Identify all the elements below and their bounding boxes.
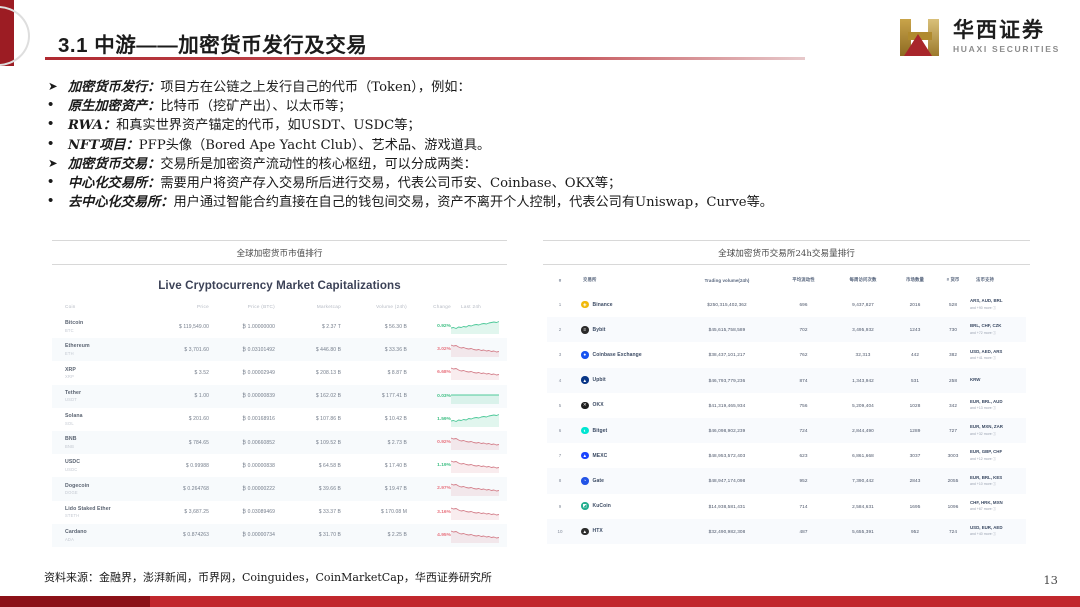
bullet-text: 比特币（挖矿产出）、以太币等； [160,97,351,116]
table-row[interactable]: DogecoinDOGE$ 0.264768₿ 0.00000222$ 39.6… [52,477,507,500]
exchange-fiat-support: EUR, BRL, KESand +10 more ⓘ [970,468,1026,493]
coin-symbol: ADA [65,537,147,542]
exchange-coins: 342 [936,393,970,418]
exchange-col-header[interactable]: 法币支持 [970,273,1026,292]
market-cap-col-header[interactable]: Price (BTC) [209,304,275,315]
coin-cell: XRPXRP [52,367,147,380]
exchange-name: Coinbase Exchange [593,352,642,358]
table-row[interactable]: 9◩KuCoin$14,938,581,4317142,584,63116951… [547,494,1026,519]
exchange-fiat-support: CHF, HRK, MXNand +67 more ⓘ [970,494,1026,519]
coin-volume: $ 19.47 B [341,477,407,500]
exchange-volume: $46,793,779,236 [679,368,775,393]
exchange-volume: $48,947,174,098 [679,468,775,493]
coin-cell: SolanaSOL [52,413,147,426]
page-number: 13 [1043,573,1058,587]
coin-symbol: STETH [65,513,147,518]
coin-change: 0.03% [407,385,451,408]
exchange-table-body: 1◈Binance$250,315,402,3626969,437,827201… [547,292,1026,544]
coin-price: $ 201.60 [147,408,209,431]
coin-change: 6.68% [407,361,451,384]
exchange-name-cell[interactable]: ◩KuCoin [573,502,679,510]
coin-volume: $ 2.25 B [341,524,407,547]
exchange-visits: 7,390,442 [832,468,894,493]
exchange-logo-icon: ◔ [581,477,589,485]
exchange-volume: $48,953,572,403 [679,443,775,468]
table-row[interactable]: 1◈Binance$250,315,402,3626969,437,827201… [547,292,1026,317]
fiat-more: and +72 more ⓘ [970,331,1026,336]
table-row[interactable]: 3●Coinbase Exchange$38,437,101,21776232,… [547,342,1026,367]
table-row[interactable]: 7▲MEXC$48,953,572,4036236,861,6683037300… [547,443,1026,468]
panel-caption-right: 全球加密货币交易所24h交易量排行 [543,240,1030,265]
exchange-volume: $45,615,758,589 [679,317,775,342]
fiat-more: and +10 more ⓘ [970,482,1026,487]
coin-name: USDC [65,459,147,465]
exchange-fiat-support: KRW [970,368,1026,393]
chart-panel-exchange-volume: 全球加密货币交易所24h交易量排行 #交易所Trading volume(24h… [543,240,1030,563]
market-cap-col-header[interactable]: Coin [52,304,147,315]
table-row[interactable]: 8◔Gate$48,947,174,0989527,390,4422843205… [547,468,1026,493]
exchange-coins: 258 [936,368,970,393]
coin-marketcap: $ 446.80 B [275,338,341,361]
exchange-coins: 1096 [936,494,970,519]
exchange-name-cell[interactable]: ▲HTX [573,528,679,536]
exchange-name: Bybit [593,327,606,333]
fiat-main: BRL, CHF, CZK [970,323,1026,329]
corner-arc-decoration [0,6,30,66]
sparkline-chart [451,501,507,524]
exchange-rank: 2 [547,317,573,342]
exchange-name-cell[interactable]: ▲MEXC [573,452,679,460]
coin-name: Lido Staked Ether [65,506,147,512]
bullet-label: 加密货币发行： [68,78,160,97]
coin-change: 4.95% [407,524,451,547]
bullet-list: ➤加密货币发行：项目方在公链之上发行自己的代币（Token），例如：•原生加密资… [46,78,1046,212]
coin-cell: USDCUSDC [52,459,147,472]
title-underline [45,57,805,60]
table-row[interactable]: CardanoADA$ 0.874263₿ 0.00000734$ 31.70 … [52,524,507,547]
sparkline-chart [451,361,507,384]
coin-name: Solana [65,413,147,419]
page-title: 3.1 中游——加密货币发行及交易 [58,28,367,58]
bullet-label: 去中心化交易所： [68,193,174,212]
coin-cell: EthereumETH [52,343,147,356]
table-row[interactable]: SolanaSOL$ 201.60₿ 0.00168916$ 107.86 B$… [52,408,507,431]
coin-price-btc: ₿ 0.00168916 [209,408,275,431]
coin-volume: $ 33.36 B [341,338,407,361]
coin-price-btc: ₿ 0.03089469 [209,501,275,524]
coin-cell: BNBBNB [52,436,147,449]
coin-symbol: ETH [65,351,147,356]
coin-price-btc: ₿ 0.00000839 [209,385,275,408]
bullet-row: •RWA：和真实世界资产锚定的代币，如USDT、USDC等； [46,116,1046,135]
exchange-volume-table: #交易所Trading volume(24h)平均流动性每周访问次数市场数量# … [547,273,1026,544]
market-cap-col-header[interactable]: Volume (24h) [341,304,407,315]
exchange-rank: 8 [547,468,573,493]
exchange-markets: 952 [894,519,936,544]
fiat-more: and +41 more ⓘ [970,356,1026,361]
table-row[interactable]: EthereumETH$ 3,701.60₿ 0.03101492$ 446.8… [52,338,507,361]
table-row[interactable]: 10▲HTX$32,490,982,3084875,655,391952724U… [547,519,1026,544]
screenshot-market-cap-table: Live Cryptocurrency Market Capitalizatio… [52,265,507,561]
dot-bullet-icon: • [46,97,68,113]
exchange-liquidity: 724 [775,418,832,443]
coin-cell: Lido Staked EtherSTETH [52,506,147,519]
coin-price-btc: ₿ 0.03101492 [209,338,275,361]
sparkline-chart [451,454,507,477]
coin-name: Cardano [65,529,147,535]
panel-caption-left: 全球加密货币市值排行 [52,240,507,265]
exchange-col-header[interactable]: 交易所 [573,273,679,292]
exchange-markets: 2843 [894,468,936,493]
dot-bullet-icon: • [46,193,68,209]
exchange-name: OKX [593,402,604,408]
coin-marketcap: $ 109.52 B [275,431,341,454]
exchange-visits: 32,313 [832,342,894,367]
dot-bullet-icon: • [46,116,68,132]
exchange-liquidity: 756 [775,393,832,418]
coin-cell: CardanoADA [52,529,147,542]
exchange-coins: 528 [936,292,970,317]
sparkline-chart [451,338,507,361]
table-row[interactable]: USDCUSDC$ 0.99988₿ 0.00000838$ 64.58 B$ … [52,454,507,477]
fiat-main: EUR, MXN, ZAR [970,424,1026,430]
exchange-markets: 1028 [894,393,936,418]
coin-price: $ 0.264768 [147,477,209,500]
coin-change: 1.59% [407,408,451,431]
sparkline-chart [451,385,507,408]
fiat-more: and +90 more ⓘ [970,306,1026,311]
left-margin-band [0,0,14,607]
coin-volume: $ 10.42 B [341,408,407,431]
exchange-fiat-support: EUR, MXN, ZARand +32 more ⓘ [970,418,1026,443]
exchange-fiat-support: EUR, GBP, CHFand +12 more ⓘ [970,443,1026,468]
logo-name-en: HUAXI SECURITIES [953,44,1060,54]
exchange-liquidity: 874 [775,368,832,393]
exchange-liquidity: 702 [775,317,832,342]
exchange-name: Gate [593,478,605,484]
screenshot-exchange-table: #交易所Trading volume(24h)平均流动性每周访问次数市场数量# … [543,265,1030,563]
bullet-label: 加密货币交易： [68,155,160,174]
coin-price: $ 784.65 [147,431,209,454]
market-cap-col-header[interactable]: Marketcap [275,304,341,315]
exchange-col-header[interactable]: 市场数量 [894,273,936,292]
exchange-liquidity: 623 [775,443,832,468]
exchange-logo-icon: ≡ [581,326,589,334]
exchange-coins: 2055 [936,468,970,493]
exchange-name: HTX [593,528,603,534]
coin-name: XRP [65,367,147,373]
exchange-fiat-support: ARS, AUD, BRLand +90 more ⓘ [970,292,1026,317]
exchange-coins: 727 [936,418,970,443]
exchange-name: Binance [593,302,613,308]
bullet-row: ➤加密货币发行：项目方在公链之上发行自己的代币（Token），例如： [46,78,1046,97]
exchange-liquidity: 487 [775,519,832,544]
coin-marketcap: $ 2.37 T [275,315,341,338]
exchange-coins: 382 [936,342,970,367]
exchange-coins: 730 [936,317,970,342]
coin-price-btc: ₿ 0.00000222 [209,477,275,500]
fiat-main: USD, AED, ARS [970,349,1026,355]
exchange-name: Upbit [593,377,606,383]
coin-symbol: USDC [65,467,147,472]
exchange-name-cell[interactable]: ◈Binance [573,301,679,309]
exchange-visits: 9,437,827 [832,292,894,317]
exchange-rank: 4 [547,368,573,393]
exchange-name: Bitget [593,428,608,434]
fiat-more: and +32 more ⓘ [970,432,1026,437]
coin-marketcap: $ 162.02 B [275,385,341,408]
exchange-liquidity: 762 [775,342,832,367]
exchange-markets: 1243 [894,317,936,342]
coin-change: 1.19% [407,454,451,477]
coin-change: 2.97% [407,477,451,500]
logo-name-cn: 华西证券 [953,20,1060,42]
exchange-markets: 3037 [894,443,936,468]
exchange-volume: $41,319,465,934 [679,393,775,418]
exchange-coins: 724 [936,519,970,544]
coin-price-btc: ₿ 0.00000734 [209,524,275,547]
fiat-main: EUR, GBP, CHF [970,449,1026,455]
coin-symbol: USDT [65,397,147,402]
table-row[interactable]: BNBBNB$ 784.65₿ 0.00660852$ 109.52 B$ 2.… [52,431,507,454]
dot-bullet-icon: • [46,136,68,152]
exchange-name-cell[interactable]: ◐Bitget [573,427,679,435]
table-row[interactable]: BitcoinBTC$ 119,549.00₿ 1.00000000$ 2.37… [52,315,507,338]
sparkline-chart [451,431,507,454]
exchange-visits: 1,343,942 [832,368,894,393]
exchange-logo-icon: ✕ [581,402,589,410]
exchange-rank: 9 [547,494,573,519]
bullet-label: 原生加密资产： [68,97,160,116]
exchange-markets: 1695 [894,494,936,519]
exchange-name: KuCoin [593,503,611,509]
coin-volume: $ 170.08 M [341,501,407,524]
coin-change: 3.02% [407,338,451,361]
coin-marketcap: $ 208.13 B [275,361,341,384]
exchange-rank: 1 [547,292,573,317]
market-cap-col-header[interactable]: Last 24h [451,304,507,315]
bullet-text: 用户通过智能合约直接在自己的钱包间交易，资产不离开个人控制，代表公司有Unisw… [174,193,773,212]
coin-cell: BitcoinBTC [52,320,147,333]
exchange-col-header[interactable]: # [547,273,573,292]
coin-symbol: BNB [65,444,147,449]
coin-price-btc: ₿ 1.00000000 [209,315,275,338]
exchange-logo-icon: ◈ [581,301,589,309]
exchange-volume: $38,437,101,217 [679,342,775,367]
coin-price-btc: ₿ 0.00000838 [209,454,275,477]
coin-price-btc: ₿ 0.00660852 [209,431,275,454]
market-cap-table-title: Live Cryptocurrency Market Capitalizatio… [52,271,507,304]
bottom-accent-bar [0,596,1080,607]
bullet-text: 和真实世界资产锚定的代币，如USDT、USDC等； [116,116,421,135]
coin-change: 3.16% [407,501,451,524]
coin-marketcap: $ 107.86 B [275,408,341,431]
exchange-logo-icon: ▲ [581,452,589,460]
exchange-col-header[interactable]: 平均流动性 [775,273,832,292]
table-row[interactable]: 5✕OKX$41,319,465,9347565,209,4041028342E… [547,393,1026,418]
coin-name: Bitcoin [65,320,147,326]
exchange-volume: $32,490,982,308 [679,519,775,544]
exchange-liquidity: 696 [775,292,832,317]
coin-cell: TetherUSDT [52,390,147,403]
exchange-volume: $250,315,402,362 [679,292,775,317]
exchange-coins: 3003 [936,443,970,468]
table-row[interactable]: TetherUSDT$ 1.00₿ 0.00000839$ 162.02 B$ … [52,385,507,408]
exchange-name-cell[interactable]: ▲Upbit [573,376,679,384]
exchange-rank: 10 [547,519,573,544]
coin-marketcap: $ 31.70 B [275,524,341,547]
coin-name: Tether [65,390,147,396]
market-cap-col-header[interactable]: Change [407,304,451,315]
coin-name: Ethereum [65,343,147,349]
exchange-rank: 6 [547,418,573,443]
exchange-name-cell[interactable]: ✕OKX [573,402,679,410]
exchange-liquidity: 714 [775,494,832,519]
coin-price: $ 0.874263 [147,524,209,547]
table-row[interactable]: 2≡Bybit$45,615,758,5897023,495,932124373… [547,317,1026,342]
source-note: 资料来源：金融界，澎湃新闻，币界网，Coinguides，CoinMarketC… [44,569,492,585]
logo-h-mark-icon [898,16,944,58]
exchange-rank: 5 [547,393,573,418]
coin-volume: $ 17.40 B [341,454,407,477]
exchange-fiat-support: EUR, BRL, AUDand +13 more ⓘ [970,393,1026,418]
bullet-text: 交易所是加密资产流动性的核心枢纽，可以分成两类： [160,155,477,174]
market-cap-col-header[interactable]: Price [147,304,209,315]
coin-symbol: XRP [65,374,147,379]
exchange-markets: 442 [894,342,936,367]
coin-price-btc: ₿ 0.00002949 [209,361,275,384]
coin-price: $ 0.99988 [147,454,209,477]
exchange-logo-icon: ▲ [581,528,589,536]
fiat-main: USD, EUR, AED [970,525,1026,531]
exchange-logo-icon: ◩ [581,502,589,510]
coin-name: Dogecoin [65,483,147,489]
fiat-main: ARS, AUD, BRL [970,298,1026,304]
coin-symbol: DOGE [65,490,147,495]
fiat-main: EUR, BRL, AUD [970,399,1026,405]
table-row[interactable]: XRPXRP$ 3.52₿ 0.00002949$ 208.13 B$ 8.87… [52,361,507,384]
bullet-row: •原生加密资产：比特币（挖矿产出）、以太币等； [46,97,1046,116]
market-cap-table-header-row: CoinPricePrice (BTC)MarketcapVolume (24h… [52,304,507,315]
exchange-col-header[interactable]: Trading volume(24h) [679,273,775,292]
exchange-rank: 3 [547,342,573,367]
market-cap-table: CoinPricePrice (BTC)MarketcapVolume (24h… [52,304,507,547]
exchange-name-cell[interactable]: ●Coinbase Exchange [573,351,679,359]
exchange-visits: 2,844,490 [832,418,894,443]
exchange-name: MEXC [593,453,608,459]
coin-volume: $ 56.30 B [341,315,407,338]
sparkline-chart [451,477,507,500]
fiat-more: and +13 more ⓘ [970,406,1026,411]
exchange-logo-icon: ● [581,351,589,359]
coin-volume: $ 8.87 B [341,361,407,384]
coin-marketcap: $ 33.37 B [275,501,341,524]
bullet-text: 需要用户将资产存入交易所后进行交易，代表公司币安、Coinbase、OKX等； [160,174,621,193]
coin-volume: $ 2.73 B [341,431,407,454]
table-row[interactable]: Lido Staked EtherSTETH$ 3,687.25₿ 0.0308… [52,501,507,524]
exchange-col-header[interactable]: # 货币 [936,273,970,292]
coin-name: BNB [65,436,147,442]
coin-price: $ 119,549.00 [147,315,209,338]
fiat-more: and +67 more ⓘ [970,507,1026,512]
bullet-label: RWA： [68,116,116,135]
sparkline-chart [451,315,507,338]
coin-cell: DogecoinDOGE [52,483,147,496]
sparkline-chart [451,408,507,431]
coin-price: $ 3.52 [147,361,209,384]
exchange-name-cell[interactable]: ◔Gate [573,477,679,485]
bullet-text: PFP头像（Bored Ape Yacht Club）、艺术品、游戏道具。 [139,136,490,155]
exchange-visits: 6,861,668 [832,443,894,468]
bullet-row: •NFT项目：PFP头像（Bored Ape Yacht Club）、艺术品、游… [46,136,1046,155]
exchange-visits: 5,209,404 [832,393,894,418]
exchange-volume: $14,938,581,431 [679,494,775,519]
exchange-liquidity: 952 [775,468,832,493]
coin-symbol: BTC [65,328,147,333]
exchange-markets: 1289 [894,418,936,443]
exchange-fiat-support: USD, AED, ARSand +41 more ⓘ [970,342,1026,367]
exchange-fiat-support: USD, EUR, AEDand +40 more ⓘ [970,519,1026,544]
chart-panel-market-cap: 全球加密货币市值排行 Live Cryptocurrency Market Ca… [52,240,507,561]
exchange-markets: 2016 [894,292,936,317]
table-row[interactable]: 6◐Bitget$46,098,902,2397242,844,49012897… [547,418,1026,443]
dot-bullet-icon: • [46,174,68,190]
exchange-volume: $46,098,902,239 [679,418,775,443]
market-cap-table-body: BitcoinBTC$ 119,549.00₿ 1.00000000$ 2.37… [52,315,507,547]
sparkline-chart [451,524,507,547]
fiat-main: CHF, HRK, MXN [970,500,1026,506]
bullet-label: NFT项目： [68,136,139,155]
exchange-name-cell[interactable]: ≡Bybit [573,326,679,334]
fiat-main: KRW [970,377,1026,383]
coin-price: $ 3,687.25 [147,501,209,524]
arrow-bullet-icon: ➤ [46,155,68,174]
exchange-markets: 531 [894,368,936,393]
coin-change: 0.92% [407,431,451,454]
fiat-main: EUR, BRL, KES [970,475,1026,481]
fiat-more: and +40 more ⓘ [970,532,1026,537]
bullet-text: 项目方在公链之上发行自己的代币（Token），例如： [160,78,470,97]
exchange-logo-icon: ◐ [581,427,589,435]
coin-volume: $ 177.41 B [341,385,407,408]
bullet-row: •中心化交易所：需要用户将资产存入交易所后进行交易，代表公司币安、Coinbas… [46,174,1046,193]
exchange-table-header-row: #交易所Trading volume(24h)平均流动性每周访问次数市场数量# … [547,273,1026,292]
bullet-row: •去中心化交易所：用户通过智能合约直接在自己的钱包间交易，资产不离开个人控制，代… [46,193,1046,212]
fiat-more: and +12 more ⓘ [970,457,1026,462]
coin-price: $ 3,701.60 [147,338,209,361]
coin-price: $ 1.00 [147,385,209,408]
arrow-bullet-icon: ➤ [46,78,68,97]
exchange-logo-icon: ▲ [581,376,589,384]
coin-marketcap: $ 64.58 B [275,454,341,477]
exchange-visits: 5,655,391 [832,519,894,544]
exchange-visits: 3,495,932 [832,317,894,342]
table-row[interactable]: 4▲Upbit$46,793,779,2368741,343,942531258… [547,368,1026,393]
bullet-row: ➤加密货币交易：交易所是加密资产流动性的核心枢纽，可以分成两类： [46,155,1046,174]
company-logo: 华西证券 HUAXI SECURITIES [898,14,1060,60]
exchange-fiat-support: BRL, CHF, CZKand +72 more ⓘ [970,317,1026,342]
bottom-accent-bar-dark [0,596,150,607]
coin-change: 0.92% [407,315,451,338]
exchange-col-header[interactable]: 每周访问次数 [832,273,894,292]
coin-symbol: SOL [65,421,147,426]
exchange-visits: 2,584,631 [832,494,894,519]
exchange-rank: 7 [547,443,573,468]
bullet-label: 中心化交易所： [68,174,160,193]
coin-marketcap: $ 39.66 B [275,477,341,500]
